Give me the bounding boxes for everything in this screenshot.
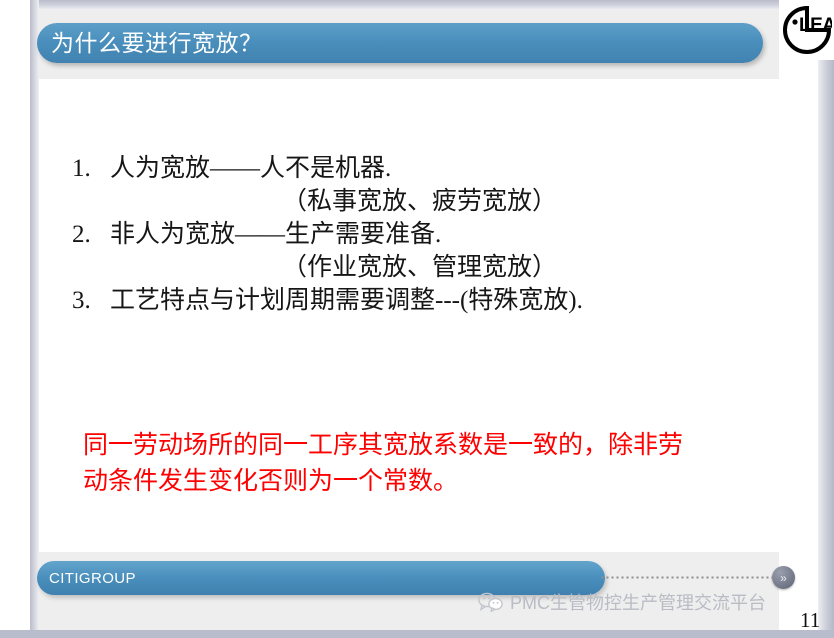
list-item: 2. 非人为宽放——生产需要准备. (72, 218, 772, 251)
slide-inner-surface (39, 9, 818, 630)
slide-canvas: LEAN 为什么要进行宽放？ 1. 人为宽放——人不是机器. （私事宽放、疲劳宽… (0, 0, 834, 638)
svg-text:LEAN: LEAN (799, 15, 832, 36)
footer-brand-label: CITIGROUP (37, 570, 136, 587)
highlight-note: 同一劳动场所的同一工序其宽放系数是一致的，除非劳 动条件发生变化否则为一个常数。 (83, 428, 763, 500)
footer-dotted-rule (600, 576, 772, 579)
list-item: 3. 工艺特点与计划周期需要调整---(特殊宽放). (72, 284, 772, 317)
lean-logo: LEAN (779, 0, 834, 60)
page-title: 为什么要进行宽放？ (37, 32, 263, 55)
highlight-note-line-2: 动条件发生变化否则为一个常数。 (83, 464, 763, 500)
list-item: 1. 人为宽放——人不是机器. (72, 152, 772, 185)
frame-top-bevel (30, 0, 834, 9)
body-list: 1. 人为宽放——人不是机器. （私事宽放、疲劳宽放） 2. 非人为宽放——生产… (72, 152, 772, 317)
list-item-label: 人为宽放——人不是机器. (110, 152, 391, 185)
chevron-right-double-icon[interactable]: » (772, 566, 795, 589)
list-item-number: 3. (72, 284, 110, 317)
frame-left-bevel (30, 0, 39, 630)
list-item-subnote: （作业宽放、管理宽放） (72, 251, 772, 284)
highlight-note-line-1: 同一劳动场所的同一工序其宽放系数是一致的，除非劳 (83, 428, 763, 464)
page-number: 11 (800, 608, 820, 633)
canvas-left-margin (0, 0, 30, 630)
watermark-label: PMC生管物控生产管理交流平台 (510, 589, 766, 615)
window-bottom-bar (0, 630, 834, 638)
slide-title-bar: 为什么要进行宽放？ (37, 23, 763, 63)
list-item-number: 2. (72, 218, 110, 251)
watermark: PMC生管物控生产管理交流平台 (478, 589, 766, 615)
list-item-label: 非人为宽放——生产需要准备. (110, 218, 441, 251)
list-item-label: 工艺特点与计划周期需要调整---(特殊宽放). (110, 284, 583, 317)
list-item-number: 1. (72, 152, 110, 185)
lean-logo-icon: LEAN (782, 5, 832, 55)
list-item-subnote: （私事宽放、疲劳宽放） (72, 185, 772, 218)
wechat-icon (478, 592, 504, 612)
frame-right-bevel (818, 0, 834, 630)
